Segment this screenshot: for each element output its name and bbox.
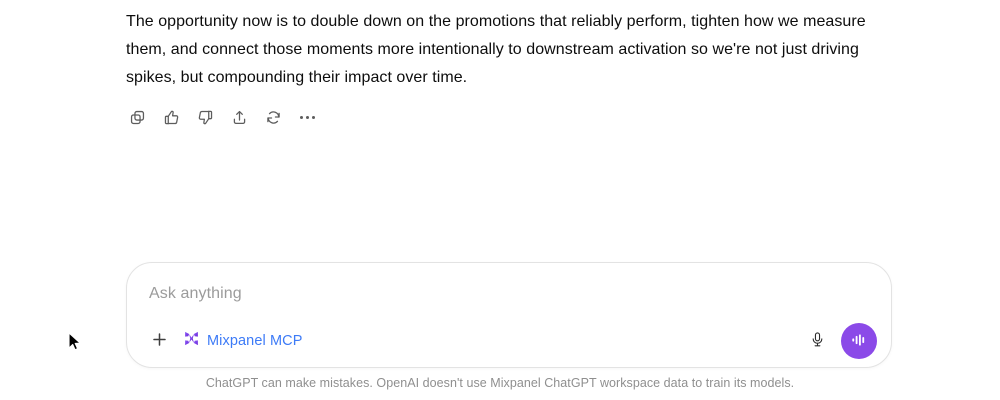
share-icon [231,109,248,126]
dictate-button[interactable] [801,325,833,357]
thumbs-down-icon [197,109,214,126]
mouse-cursor [68,332,84,354]
voice-mode-button[interactable] [841,323,877,359]
add-attachment-button[interactable] [145,327,173,355]
thumbs-up-button[interactable] [158,104,184,130]
copy-icon [129,109,146,126]
more-options-button[interactable] [294,104,320,130]
mixpanel-x-logo-icon [183,330,200,352]
assistant-message-text: The opportunity now is to double down on… [126,8,886,92]
mixpanel-mcp-chip[interactable]: Mixpanel MCP [177,327,308,355]
waveform-icon [849,330,869,353]
composer-placeholder[interactable]: Ask anything [149,283,869,305]
regenerate-button[interactable] [260,104,286,130]
copy-button[interactable] [124,104,150,130]
thumbs-up-icon [163,109,180,126]
assistant-message: The opportunity now is to double down on… [126,8,886,92]
plus-icon [150,330,169,352]
microphone-icon [809,331,826,351]
footer-disclaimer: ChatGPT can make mistakes. OpenAI doesn'… [0,376,1000,390]
thumbs-down-button[interactable] [192,104,218,130]
composer[interactable]: Ask anything [126,262,892,368]
composer-toolbar: Mixpanel MCP [127,315,891,367]
share-button[interactable] [226,104,252,130]
message-action-bar [124,104,320,130]
mixpanel-mcp-label: Mixpanel MCP [207,333,302,349]
more-options-icon [300,116,315,119]
regenerate-icon [265,109,282,126]
